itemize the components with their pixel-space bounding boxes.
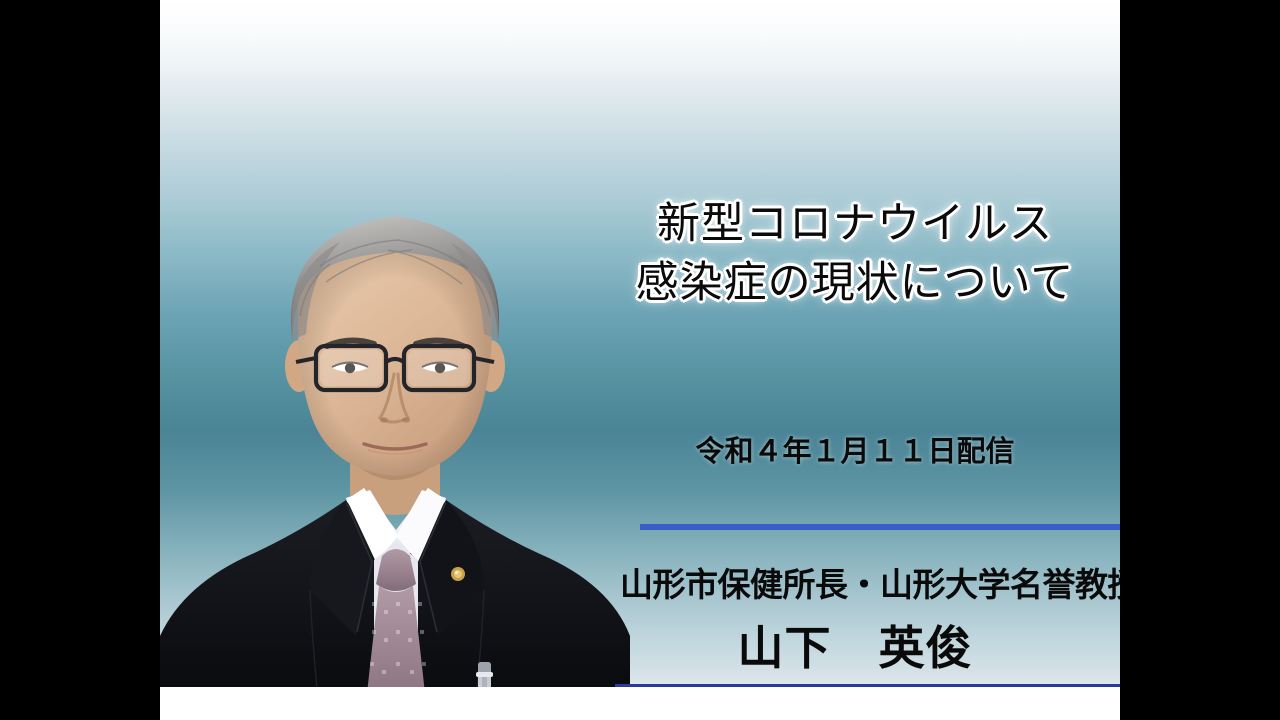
presenter-portrait-photo [160,170,630,720]
presenter-affiliation: 山形市保健所長・山形大学名誉教授 [620,558,1120,606]
presenter-name: 山下 英俊 [590,612,1120,678]
video-frame: 新型コロナウイルス 感染症の現状について 令和４年１月１１日配信 山形市保健所長… [0,0,1280,720]
letterbox-right [1120,0,1280,720]
letterbox-left [0,0,160,720]
broadcast-date: 令和４年１月１１日配信 [590,428,1120,470]
divider-rule-top [640,524,1120,530]
presentation-slide: 新型コロナウイルス 感染症の現状について 令和４年１月１１日配信 山形市保健所長… [160,0,1120,720]
title-line-1: 新型コロナウイルス [590,196,1120,253]
title-line-2: 感染症の現状について [590,255,1120,312]
slide-footer-band [160,687,1120,720]
slide-title: 新型コロナウイルス 感染症の現状について [590,196,1120,312]
divider-rule-bottom [615,684,1120,687]
